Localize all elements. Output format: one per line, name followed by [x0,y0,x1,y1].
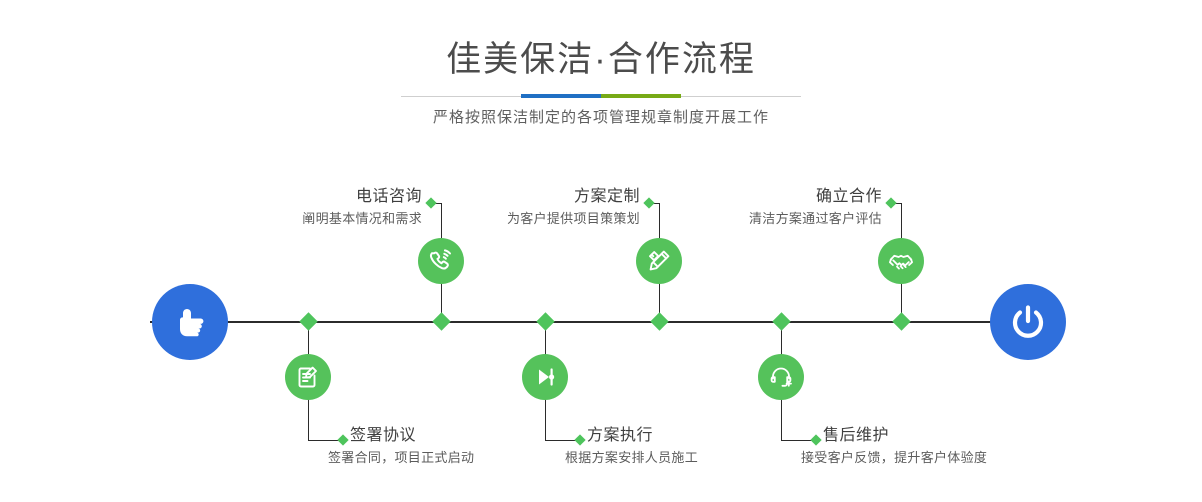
axis-marker-1 [299,312,317,330]
divider-gray-left [401,96,521,97]
step-title-6: 售后维护 [823,425,987,447]
step-title-4: 方案执行 [587,425,698,447]
step-desc-3: 为客户提供项目策策划 [428,208,640,230]
pointing-hand-icon [170,302,210,342]
step-label-4: 方案执行 根据方案安排人员施工 [587,425,698,469]
step-title-2: 签署协议 [350,425,474,447]
page-subtitle: 严格按照保洁制定的各项管理规章制度开展工作 [0,106,1202,127]
step-node-4[interactable] [522,354,568,400]
timeline-end-node[interactable] [990,284,1066,360]
step-node-6[interactable] [758,354,804,400]
play-execute-icon [531,363,559,391]
divider-green-segment [601,94,681,98]
axis-marker-4 [650,312,668,330]
page-title: 佳美保洁·合作流程 [0,38,1202,82]
step-label-3: 方案定制 为客户提供项目策策划 [428,186,640,230]
phone-call-icon [427,247,455,275]
divider-gray-right [681,96,801,97]
step-title-5: 确立合作 [670,186,882,208]
step-label-5: 确立合作 清洁方案通过客户评估 [670,186,882,230]
divider-blue-segment [521,94,601,98]
flow-diagram-page: 佳美保洁·合作流程 严格按照保洁制定的各项管理规章制度开展工作 [0,0,1202,502]
axis-marker-2 [432,312,450,330]
step-desc-6: 接受客户反馈，提升客户体验度 [801,447,987,469]
timeline-axis [150,321,1052,323]
connector-tip-step-5 [885,197,896,208]
step-desc-5: 清洁方案通过客户评估 [670,208,882,230]
timeline-start-node[interactable] [152,284,228,360]
step-label-6: 售后维护 接受客户反馈，提升客户体验度 [823,425,987,469]
connector-tip-step-6 [810,434,821,445]
power-icon [1007,301,1049,343]
pencil-ruler-icon [645,247,673,275]
step-node-3[interactable] [636,238,682,284]
title-divider [401,94,801,98]
connector-tip-step-3 [643,197,654,208]
step-title-3: 方案定制 [428,186,640,208]
handshake-icon [887,247,915,275]
step-desc-1: 阐明基本情况和需求 [210,208,422,230]
document-edit-icon [294,363,322,391]
axis-marker-5 [772,312,790,330]
step-node-2[interactable] [285,354,331,400]
step-label-1: 电话咨询 阐明基本情况和需求 [210,186,422,230]
step-label-2: 签署协议 签署合同，项目正式启动 [350,425,474,469]
headset-support-add-icon [767,363,795,391]
connector-tip-step-4 [574,434,585,445]
axis-marker-6 [892,312,910,330]
step-desc-4: 根据方案安排人员施工 [565,447,698,469]
axis-marker-3 [536,312,554,330]
step-node-5[interactable] [878,238,924,284]
connector-tip-step-2 [337,434,348,445]
step-node-1[interactable] [418,238,464,284]
step-desc-2: 签署合同，项目正式启动 [328,447,474,469]
step-title-1: 电话咨询 [210,186,422,208]
